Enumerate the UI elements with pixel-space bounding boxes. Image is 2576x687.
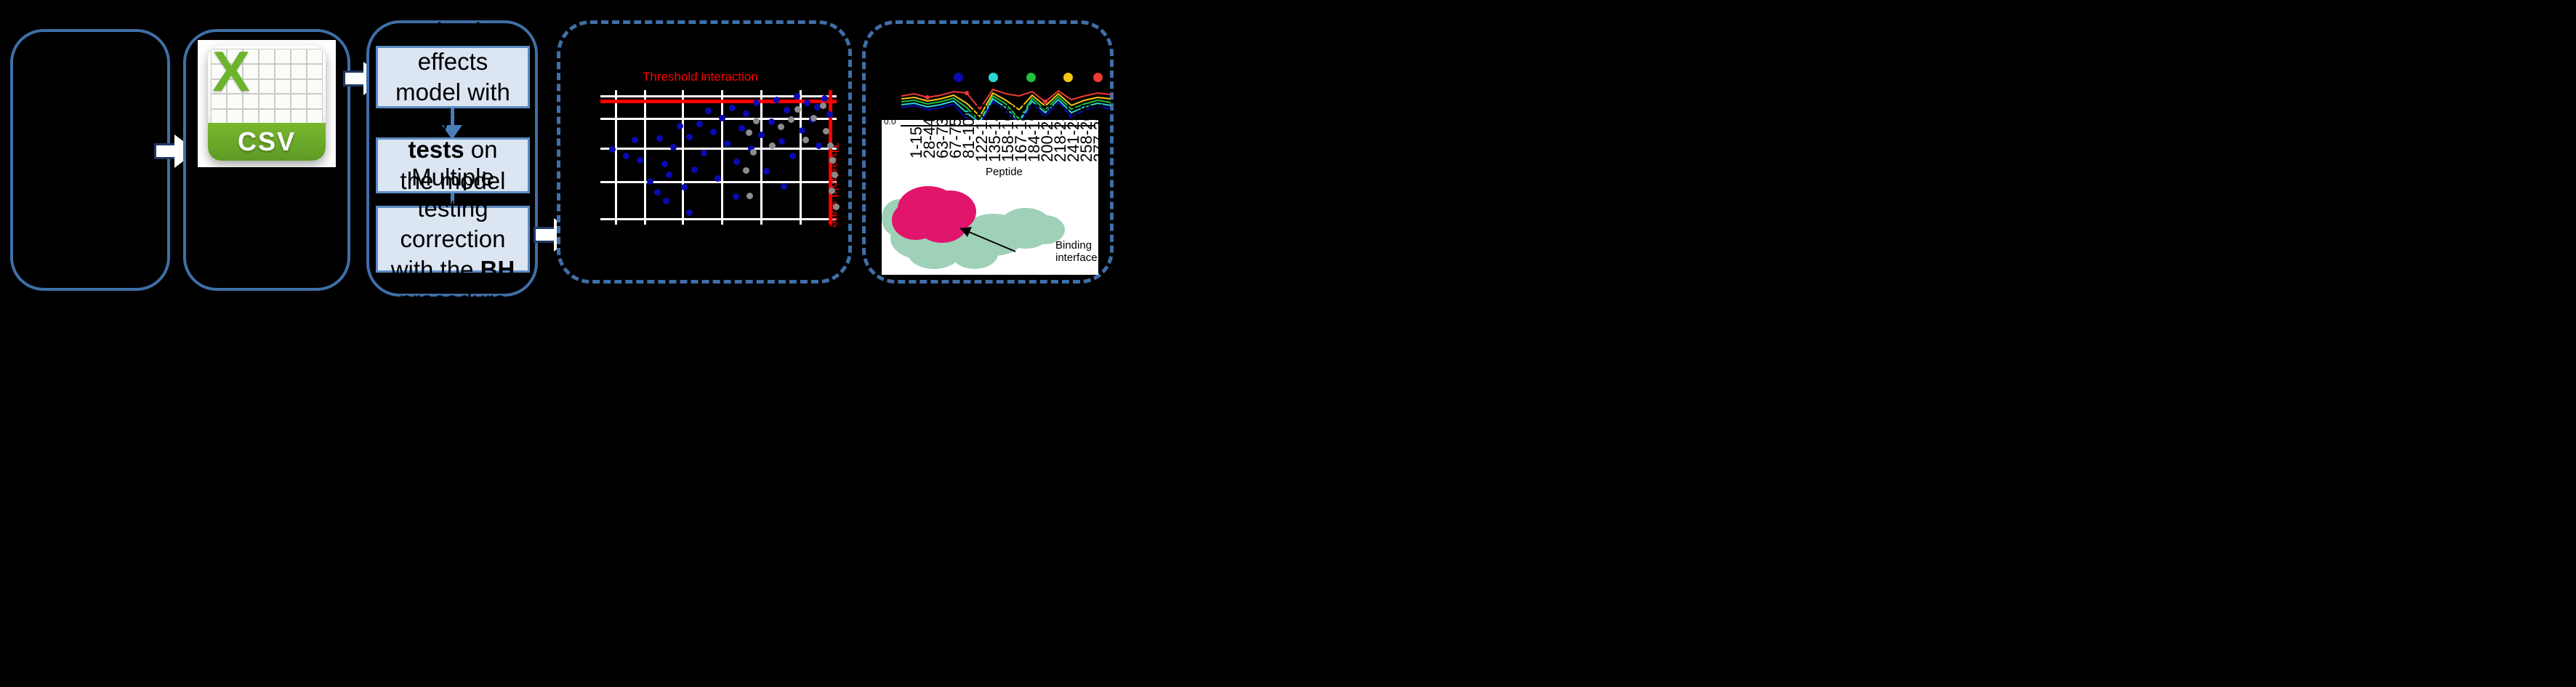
gridline-v — [682, 90, 684, 225]
step-reml-line2: effects model with — [395, 48, 510, 105]
scatter-point — [656, 135, 663, 142]
step-bh-line1: Multiple testing — [411, 164, 494, 221]
scatter-point — [701, 150, 707, 156]
scatter-point — [705, 108, 712, 114]
scatter-point — [816, 142, 822, 149]
scatter-point — [750, 149, 757, 156]
step-bh-keyword: BH — [480, 256, 515, 283]
peptide-y-tick-0: 0.0 — [884, 116, 896, 126]
gridline-h — [600, 95, 837, 97]
binding-interface-label: Binding interface — [1055, 240, 1098, 265]
scatter-point — [804, 100, 810, 106]
scatter-point — [670, 144, 677, 150]
scatter-point — [696, 121, 703, 127]
step-bh-box[interactable]: Multiple testing correction with the BH … — [376, 206, 530, 273]
scatter-point — [788, 116, 794, 123]
gridline-v — [721, 90, 723, 225]
scatter-point — [746, 129, 752, 136]
step-bh-pre: with the — [391, 256, 480, 283]
scatter-point — [794, 106, 801, 113]
gridline-v — [760, 90, 762, 225]
gridline-v — [615, 90, 617, 225]
step-wald-post: on — [464, 136, 498, 163]
threshold-interaction-line — [600, 100, 837, 103]
threshold-state-label: Threshold state — [826, 142, 841, 228]
peptide-axis-title: Peptide — [986, 166, 1023, 178]
scatter-point — [661, 161, 668, 167]
scatter-point — [829, 188, 835, 194]
scatter-point — [733, 158, 740, 165]
scatter-point — [729, 105, 736, 111]
scatter-point — [647, 178, 653, 185]
scatter-point — [768, 118, 775, 125]
scatter-point — [609, 146, 616, 153]
scatter-point — [810, 115, 817, 121]
scatter-point — [799, 127, 805, 134]
csv-x-glyph: X — [212, 47, 250, 95]
scatter-point — [666, 172, 672, 178]
csv-format-label: CSV — [238, 126, 296, 157]
step-wald-pre: Apply — [391, 105, 458, 132]
scatter-point — [743, 167, 749, 174]
scatter-point — [719, 115, 725, 121]
binding-label-line2: interface — [1055, 252, 1098, 265]
scatter-point — [781, 183, 787, 190]
scatter-point — [677, 123, 683, 129]
scatter-point — [746, 193, 753, 199]
scatter-point — [753, 100, 760, 106]
scatter-point — [826, 111, 833, 118]
csv-card: X CSV — [208, 46, 326, 161]
scatter-point — [802, 137, 809, 143]
scatter-point — [832, 172, 838, 178]
step-reml-line1: Fit a linear mixed- — [397, 0, 509, 44]
scatter-point — [710, 129, 717, 135]
scatter-point — [681, 184, 688, 190]
scatter-point — [827, 142, 834, 149]
scatter-point — [784, 107, 790, 113]
scatter-point — [724, 140, 730, 147]
scatter-point — [663, 198, 669, 204]
gridline-v — [644, 90, 646, 225]
csv-file-icon[interactable]: X CSV — [198, 40, 336, 167]
scatter-point — [773, 97, 780, 103]
input-panel[interactable] — [10, 29, 170, 291]
scatter-point — [769, 142, 776, 149]
scatter-point — [637, 157, 643, 164]
scatter-point — [691, 166, 698, 173]
scatter-point — [763, 168, 770, 174]
gridline-h — [600, 218, 837, 220]
step-bh-post: procedure — [399, 286, 507, 313]
scatter-point — [654, 189, 661, 196]
scatter-point — [778, 124, 784, 130]
scatter-point — [758, 132, 765, 138]
binding-label-line1: Binding — [1055, 240, 1098, 252]
peptide-tick-label: 277-284 — [1090, 103, 1109, 162]
scatter-point — [821, 95, 828, 102]
scatter-point — [833, 204, 840, 210]
scatter-point — [753, 118, 760, 124]
scatter-point — [632, 137, 638, 143]
scatter-point — [789, 153, 796, 159]
scatter-point — [738, 125, 745, 132]
step-bh-line2: correction — [401, 225, 506, 252]
scatter-point — [829, 157, 836, 164]
scatter-point — [823, 128, 829, 134]
scatter-point — [820, 103, 826, 109]
scatter-point — [794, 93, 800, 100]
scatter-point — [686, 209, 693, 216]
scatter-point — [623, 153, 629, 159]
scatter-point — [778, 138, 785, 145]
threshold-interaction-label: Threshold interaction — [643, 70, 758, 84]
scatter-point — [715, 175, 721, 182]
scatter-point — [686, 134, 693, 140]
gridline-h — [600, 148, 837, 150]
csv-format-band: CSV — [208, 123, 326, 161]
scatter-point — [743, 111, 749, 117]
step-reml-box[interactable]: Fit a linear mixed- effects model with R… — [376, 46, 530, 108]
scatter-point — [733, 193, 739, 200]
